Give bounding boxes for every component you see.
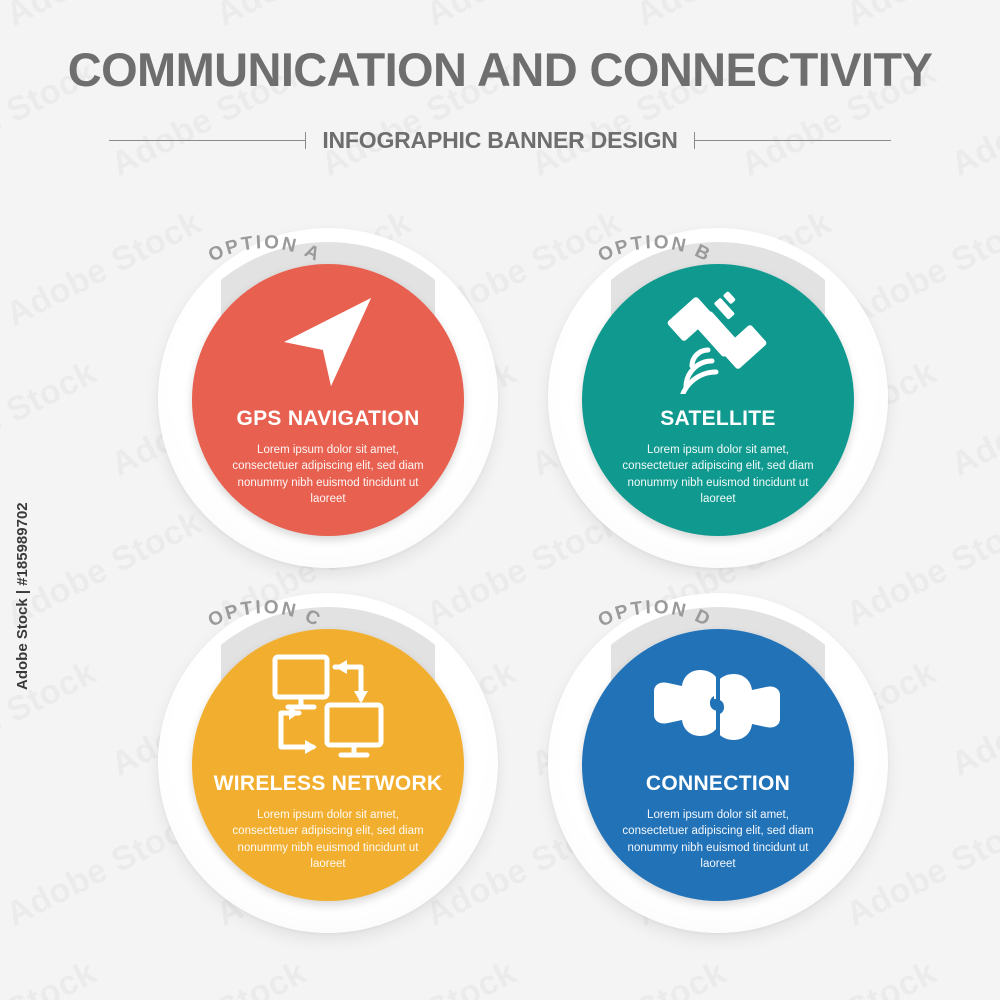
card-inner-circle: CONNECTION Lorem ipsum dolor sit amet, c…	[582, 629, 854, 901]
card-body: Lorem ipsum dolor sit amet, consectetuer…	[614, 807, 822, 872]
subtitle-row: INFOGRAPHIC BANNER DESIGN	[0, 127, 1000, 154]
divider-line-right	[695, 140, 891, 141]
card-title: WIRELESS NETWORK	[214, 773, 443, 794]
divider-line-left	[109, 140, 305, 141]
option-card-b[interactable]: OPTION B	[548, 228, 888, 568]
option-label-text: OPTION A	[205, 232, 324, 266]
svg-text:OPTION A: OPTION A	[205, 232, 324, 266]
svg-text:OPTION C: OPTION C	[205, 597, 325, 632]
svg-text:OPTION D: OPTION D	[595, 597, 715, 632]
card-body: Lorem ipsum dolor sit amet, consectetuer…	[224, 807, 432, 872]
card-inner-circle: GPS NAVIGATION Lorem ipsum dolor sit ame…	[192, 264, 464, 536]
card-body: Lorem ipsum dolor sit amet, consectetuer…	[224, 442, 432, 507]
card-title: GPS NAVIGATION	[236, 408, 419, 429]
card-title: CONNECTION	[646, 773, 790, 794]
header: COMMUNICATION AND CONNECTIVITY INFOGRAPH…	[0, 0, 1000, 154]
option-card-d[interactable]: OPTION D CONNECTION Lorem ipsu	[548, 593, 888, 933]
option-card-c[interactable]: OPTION C	[158, 593, 498, 933]
card-inner-circle: SATELLITE Lorem ipsum dolor sit amet, co…	[582, 264, 854, 536]
page-subtitle: INFOGRAPHIC BANNER DESIGN	[306, 127, 693, 154]
option-label-text: OPTION B	[595, 232, 715, 267]
page-title: COMMUNICATION AND CONNECTIVITY	[0, 42, 1000, 97]
option-card-a[interactable]: OPTION A GPS NAVIGATION Lorem ipsum dolo…	[158, 228, 498, 568]
card-title: SATELLITE	[660, 408, 775, 429]
svg-text:OPTION B: OPTION B	[595, 232, 715, 267]
option-label-text: OPTION D	[595, 597, 715, 632]
card-inner-circle: WIRELESS NETWORK Lorem ipsum dolor sit a…	[192, 629, 464, 901]
stock-id-watermark: Adobe Stock | #185989702	[14, 502, 31, 690]
card-body: Lorem ipsum dolor sit amet, consectetuer…	[614, 442, 822, 507]
option-label-text: OPTION C	[205, 597, 325, 632]
